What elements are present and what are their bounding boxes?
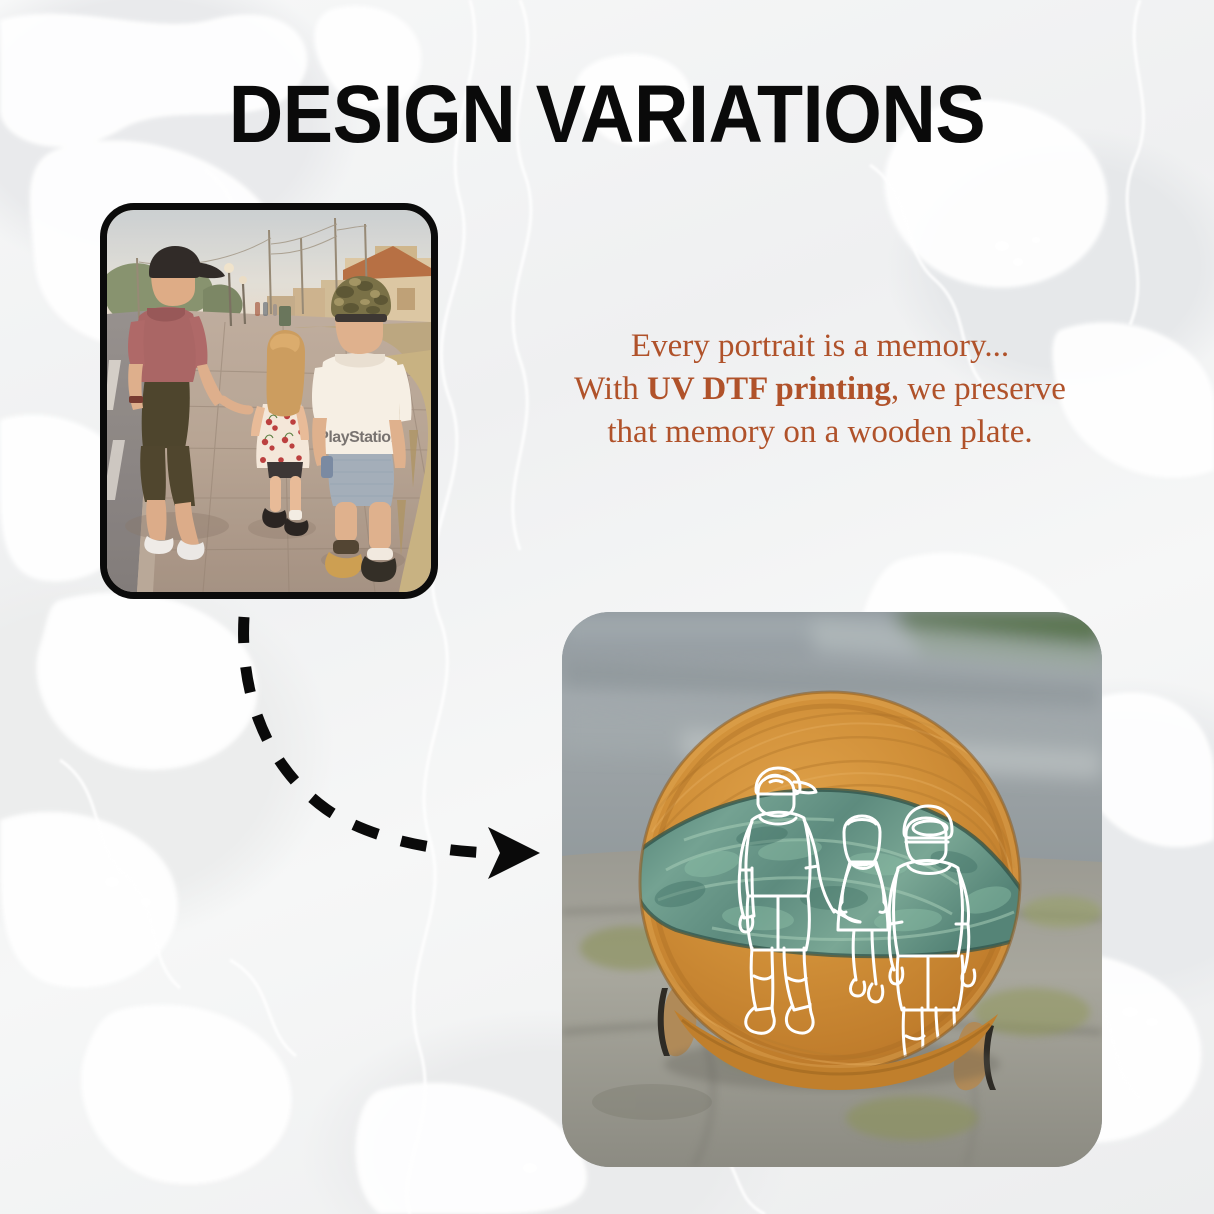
tagline-block: Every portrait is a memory... With UV DT… bbox=[470, 325, 1170, 454]
source-photo-image: PlayStation bbox=[107, 210, 431, 592]
page-title: DESIGN VARIATIONS bbox=[49, 74, 1166, 156]
source-photo-card[interactable]: PlayStation bbox=[100, 203, 438, 599]
curved-dashed-arrow-icon bbox=[200, 595, 580, 895]
tagline-line-2: With UV DTF printing, we preserve bbox=[470, 368, 1170, 411]
poster-canvas: DESIGN VARIATIONS bbox=[0, 0, 1214, 1214]
source-photo-illustration: PlayStation bbox=[107, 210, 431, 592]
tagline-line-1: Every portrait is a memory... bbox=[470, 325, 1170, 368]
tagline-emphasis: UV DTF printing bbox=[647, 371, 891, 407]
tagline-line-2-pre: With bbox=[574, 371, 647, 407]
tagline-line-2-post: , we preserve bbox=[891, 371, 1066, 407]
arrow-dashed-path bbox=[244, 617, 490, 853]
arrow-head bbox=[488, 827, 540, 879]
product-photo-illustration bbox=[562, 612, 1102, 1167]
product-photo-card[interactable] bbox=[562, 612, 1102, 1167]
tagline-line-3: that memory on a wooden plate. bbox=[470, 411, 1170, 454]
